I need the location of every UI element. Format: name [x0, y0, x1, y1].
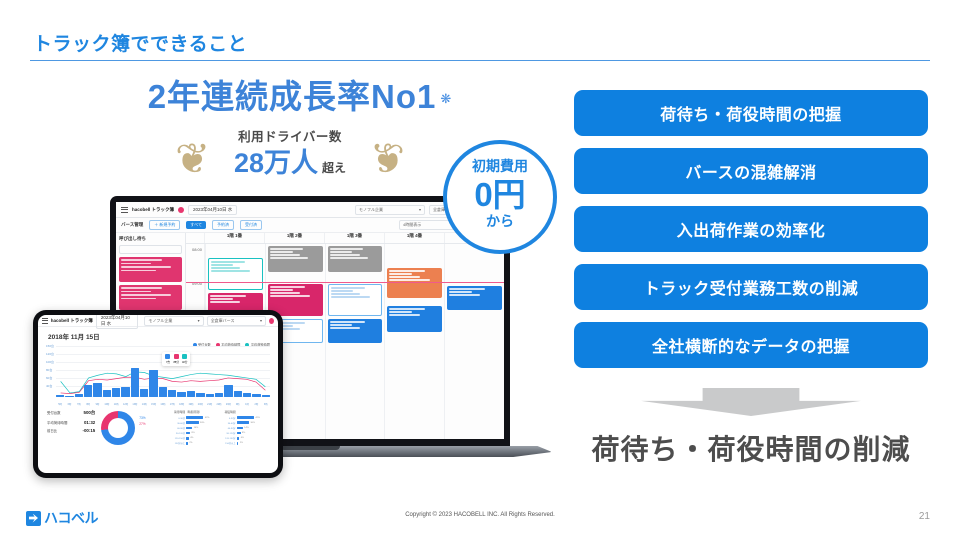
chip-reserved[interactable]: 予約済 — [212, 220, 234, 230]
notification-icon[interactable] — [269, 318, 274, 324]
donut-legend: 73% 27% — [139, 416, 145, 428]
donut-secondary: 27% — [139, 422, 145, 426]
x-tick: 7時 — [75, 402, 83, 406]
tooltip-item: 88分 — [173, 354, 178, 364]
benefit-pill[interactable]: トラック受付業務工数の削減 — [574, 264, 928, 310]
berth-select[interactable]: 全倉庫バース▾ — [207, 316, 266, 326]
chart-bar — [84, 385, 92, 397]
tooltip-item: 32分 — [182, 354, 187, 364]
wreath-number: 28万人 — [234, 148, 318, 178]
hbar-chart-1: 荷待時間（時間帯別） 0-30分42%30-60分30%60-90分14%90-… — [174, 410, 219, 447]
x-tick: 5時 — [56, 402, 64, 406]
time-label: 08:00 — [186, 247, 204, 281]
donut-chart — [101, 411, 135, 445]
hbar-pct: 42% — [205, 417, 209, 419]
y-tick: 40台 — [46, 384, 52, 388]
chart-bar — [206, 394, 214, 397]
reservation-card[interactable] — [387, 306, 442, 332]
date-picker[interactable]: 2023年04月10日 水 — [188, 205, 237, 215]
wreath-suffix: 超え — [322, 161, 346, 175]
date-picker[interactable]: 2023年04月10日 水 — [96, 315, 139, 329]
x-tick: 3時 — [262, 402, 270, 406]
kpi-value: 500台 — [84, 410, 96, 416]
hbar-pct: 8% — [242, 432, 245, 434]
x-tick: 15時 — [149, 402, 157, 406]
hbar-pct: 2% — [240, 442, 243, 444]
kpi-label: 平均荷待時間 — [47, 420, 67, 425]
chart-bar — [121, 387, 129, 397]
hbar-label: 60-90分 — [174, 426, 185, 430]
new-reservation-button[interactable]: ＋ 新規予約 — [149, 220, 180, 230]
company-select[interactable]: モノフル企業▾ — [144, 316, 203, 326]
search-input[interactable] — [119, 245, 182, 254]
reservation-card[interactable] — [328, 284, 383, 316]
hbar-pct: 4% — [190, 437, 193, 439]
down-arrow-icon — [641, 388, 861, 416]
x-tick: 19時 — [187, 402, 195, 406]
kpi-list: 受付台数500台 平均荷待時間01:32 前日比-00:15 — [47, 410, 95, 437]
tablet-bezel: hacobell トラック簿 2023年04月10日 水 モノフル企業▾ 全倉庫… — [33, 310, 283, 478]
hbar-pct: 8% — [192, 432, 195, 434]
benefit-pill[interactable]: 入出荷作業の効率化 — [574, 206, 928, 252]
chevron-down-icon: ▾ — [260, 318, 262, 324]
y-tick: 60台 — [46, 376, 52, 380]
hbar-row: 60-90分14% — [225, 426, 270, 430]
chart-bar — [224, 385, 232, 397]
waiting-title: 呼び出し待ち — [119, 236, 182, 242]
x-tick: 11時 — [112, 402, 120, 406]
benefit-pill[interactable]: 全社横断的なデータの把握 — [574, 322, 928, 368]
chart-x-axis: 5時6時7時8時9時10時11時12時13時14時15時16時17時18時19時… — [56, 402, 270, 406]
hbar-row: 120-150分4% — [174, 436, 219, 440]
wreath-value: 28万人超え — [205, 146, 375, 185]
x-tick: 1時 — [243, 402, 251, 406]
hbar-fill — [237, 421, 249, 424]
chart-bar — [149, 370, 157, 397]
hbar-row: 150分以上2% — [225, 441, 270, 445]
hbar-pct: 30% — [200, 422, 204, 424]
column-header: 1階 3番 — [324, 233, 384, 243]
chart-bar — [75, 394, 83, 397]
y-tick: 100台 — [46, 360, 54, 364]
hbar-fill — [237, 442, 238, 445]
hbar-fill — [237, 416, 254, 419]
wait-card[interactable] — [119, 285, 182, 310]
reservation-card[interactable] — [328, 319, 383, 343]
hbar-fill — [237, 427, 243, 430]
chart-bar — [215, 393, 223, 397]
hbar-pct: 30% — [251, 422, 255, 424]
chart-bar — [196, 393, 204, 397]
chip-received[interactable]: 受付済 — [240, 220, 262, 230]
hbar-label: 0-30分 — [174, 416, 185, 420]
hbar-label: 120-150分 — [174, 436, 185, 440]
x-tick: 22時 — [215, 402, 223, 406]
berth-lane[interactable] — [325, 244, 385, 439]
badge-suffix: から — [447, 214, 553, 228]
berth-title: バース管理 — [121, 222, 143, 228]
chart-bar — [234, 391, 242, 397]
conclusion-text: 荷待ち・荷役時間の削減 — [574, 428, 928, 468]
chart-bar — [187, 391, 195, 397]
badge-amount: 0円 — [447, 176, 553, 214]
hbar-label: 150分以上 — [225, 441, 236, 445]
hbar-row: 120-150分4% — [225, 436, 270, 440]
column-header: 1階 1番 — [204, 233, 264, 243]
promo-headline: 2年連続成長率No1❋ — [120, 70, 480, 118]
reservation-card[interactable] — [208, 258, 263, 290]
x-tick: 13時 — [131, 402, 139, 406]
hbar-fill — [186, 432, 190, 435]
benefit-list: 荷待ち・荷役時間の把握 バースの混雑解消 入出荷作業の効率化 トラック受付業務工… — [574, 90, 928, 380]
hbar-row: 0-30分42% — [174, 416, 219, 420]
chart-bar — [159, 387, 167, 397]
current-time-line — [186, 282, 504, 283]
chart-bar — [252, 394, 260, 397]
page-title: トラック簿でできること — [33, 29, 247, 56]
column-header: 1階 4番 — [384, 233, 444, 243]
reservation-card[interactable] — [447, 286, 502, 310]
hbar-label: 120-150分 — [225, 436, 236, 440]
hbar-pct: 42% — [255, 417, 259, 419]
x-tick: 8時 — [84, 402, 92, 406]
column-header: 1階 2番 — [264, 233, 324, 243]
hbar-title: 荷役時間 — [225, 410, 270, 414]
hbar-label: 0-30分 — [225, 416, 236, 420]
hbar-label: 60-90分 — [225, 426, 236, 430]
chart-bar — [65, 396, 73, 397]
copyright: Copyright © 2023 HACOBELL INC. All Right… — [0, 512, 960, 518]
title-divider — [30, 60, 930, 61]
hbar-label: 30-60分 — [225, 421, 236, 425]
benefit-pill[interactable]: 荷待ち・荷役時間の把握 — [574, 90, 928, 136]
page-number: 21 — [919, 511, 930, 522]
chart-bar — [103, 390, 111, 397]
laurel-wreath: ❦ ❦ 利用ドライバー数 28万人超え — [175, 128, 405, 190]
x-tick: 23時 — [224, 402, 232, 406]
x-tick: 18時 — [177, 402, 185, 406]
dashboard-chart: 150台 120台 100台 80台 60台 40台 5時6時7時8時9時10時 — [46, 344, 270, 406]
hbar-pct: 4% — [241, 437, 244, 439]
app-logo: hacobell トラック簿 — [132, 207, 174, 213]
tablet-screen: hacobell トラック簿 2023年04月10日 水 モノフル企業▾ 全倉庫… — [38, 315, 278, 473]
laurel-left-icon: ❦ — [175, 130, 201, 188]
brand-logo: ハコベル — [26, 508, 98, 528]
x-tick: 0時 — [234, 402, 242, 406]
donut-primary: 73% — [139, 416, 145, 420]
kpi-value: -00:15 — [83, 428, 96, 433]
hbar-fill — [186, 437, 188, 440]
hbar-fill — [237, 432, 241, 435]
dashboard-stats: 受付台数500台 平均荷待時間01:32 前日比-00:15 73% 27% 荷… — [38, 406, 278, 447]
logo-wordmark: ハコベル — [44, 508, 98, 528]
chart-bar — [112, 388, 120, 397]
x-tick: 12時 — [121, 402, 129, 406]
chart-bar — [140, 389, 148, 397]
x-tick: 20時 — [196, 402, 204, 406]
hbar-row: 0-30分42% — [225, 416, 270, 420]
kpi-value: 01:32 — [84, 420, 95, 425]
berth-lane[interactable] — [384, 244, 444, 439]
x-tick: 9時 — [93, 402, 101, 406]
app-subbar: バース管理 ＋ 新規予約 すべて 予約済 受付済 4時間表示▾ 一括操作 — [116, 218, 504, 233]
hbar-row: 60-90分14% — [174, 426, 219, 430]
promo-headline-text: 2年連続成長率No1 — [148, 78, 437, 115]
hbar-fill — [186, 416, 203, 419]
tablet-topbar: hacobell トラック簿 2023年04月10日 水 モノフル企業▾ 全倉庫… — [38, 315, 278, 327]
chip-all[interactable]: すべて — [186, 221, 206, 229]
tablet-mockup: hacobell トラック簿 2023年04月10日 水 モノフル企業▾ 全倉庫… — [33, 310, 283, 478]
y-tick: 150台 — [46, 344, 54, 348]
hbar-label: 90-120分 — [174, 431, 185, 435]
company-select[interactable]: モノフル企業▾ — [355, 205, 425, 215]
reservation-card[interactable] — [387, 268, 442, 298]
laptop-notch — [280, 446, 340, 450]
x-tick: 21時 — [206, 402, 214, 406]
badge-caption: 初期費用 — [447, 156, 553, 176]
hbar-fill — [186, 427, 192, 430]
dashboard-date: 2018年 11月 15日 — [38, 327, 278, 342]
hbar-chart-2: 荷役時間 0-30分42%30-60分30%60-90分14%90-120分8%… — [225, 410, 270, 447]
y-tick: 120台 — [46, 352, 54, 356]
reservation-card[interactable] — [328, 246, 383, 272]
hbar-label: 30-60分 — [174, 421, 185, 425]
asterisk-icon: ❋ — [440, 91, 452, 106]
hbar-pct: 2% — [189, 442, 192, 444]
benefit-pill[interactable]: バースの混雑解消 — [574, 148, 928, 194]
x-tick: 14時 — [140, 402, 148, 406]
hbar-row: 30-60分30% — [174, 421, 219, 425]
initial-cost-badge: 初期費用 0円 から — [443, 140, 557, 254]
hbar-label: 150分以上 — [174, 441, 185, 445]
chart-tooltip: 7台 88分 32分 — [162, 352, 190, 366]
hbar-row: 150分以上2% — [174, 441, 219, 445]
wreath-caption: 利用ドライバー数 — [205, 128, 375, 146]
y-tick: 80台 — [46, 368, 52, 372]
wait-card[interactable] — [119, 257, 182, 282]
chevron-down-icon: ▾ — [198, 318, 200, 324]
slide-root: トラック簿でできること 2年連続成長率No1❋ ❦ ❦ 利用ドライバー数 28万… — [0, 0, 960, 540]
reservation-card[interactable] — [268, 246, 323, 272]
x-tick: 2時 — [252, 402, 260, 406]
hbar-row: 90-120分8% — [225, 431, 270, 435]
chart-bar — [56, 395, 64, 397]
berth-lane[interactable] — [444, 244, 504, 439]
app-logo: hacobell トラック簿 — [51, 318, 93, 324]
hbar-fill — [186, 421, 198, 424]
chart-bar — [262, 395, 270, 397]
laurel-right-icon: ❦ — [379, 130, 405, 188]
chevron-down-icon: ▾ — [419, 207, 421, 213]
chart-bar — [131, 368, 139, 397]
x-tick: 17時 — [168, 402, 176, 406]
menu-icon[interactable] — [121, 207, 128, 213]
x-tick: 16時 — [159, 402, 167, 406]
kpi-label: 前日比 — [47, 428, 57, 433]
hbar-fill — [237, 437, 239, 440]
hbar-label: 90-120分 — [225, 431, 236, 435]
x-tick: 6時 — [65, 402, 73, 406]
notification-icon[interactable] — [178, 207, 184, 213]
hbar-title: 荷待時間（時間帯別） — [174, 410, 219, 414]
chart-bar — [168, 390, 176, 397]
hbar-fill — [186, 442, 187, 445]
chart-bar — [93, 383, 101, 397]
chart-bar — [243, 393, 251, 397]
x-tick: 10時 — [103, 402, 111, 406]
chart-bar — [177, 392, 185, 397]
hbar-pct: 14% — [194, 427, 198, 429]
kpi-label: 受付台数 — [47, 410, 61, 416]
hbar-row: 30-60分30% — [225, 421, 270, 425]
menu-icon[interactable] — [42, 318, 48, 324]
hbar-row: 90-120分8% — [174, 431, 219, 435]
tooltip-item: 7台 — [165, 354, 170, 364]
hbar-pct: 14% — [244, 427, 248, 429]
